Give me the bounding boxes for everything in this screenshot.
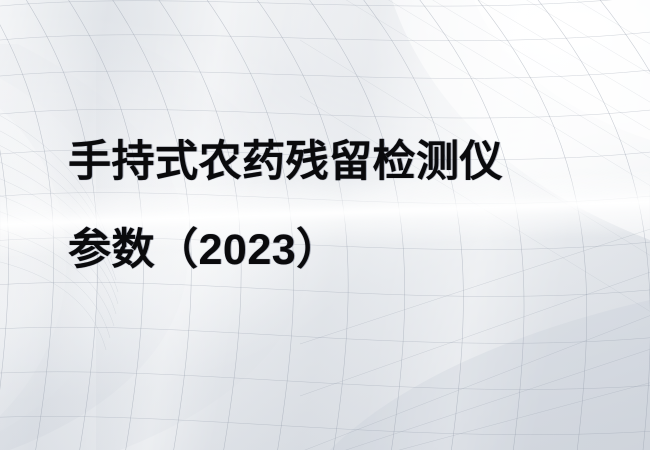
title-banner: 手持式农药残留检测仪 参数（2023） [0, 0, 650, 450]
page-title: 手持式农药残留检测仪 参数（2023） [68, 118, 588, 294]
title-line-primary: 手持式农药残留检测仪 [68, 118, 588, 206]
title-line-secondary: 参数（2023） [68, 206, 588, 294]
